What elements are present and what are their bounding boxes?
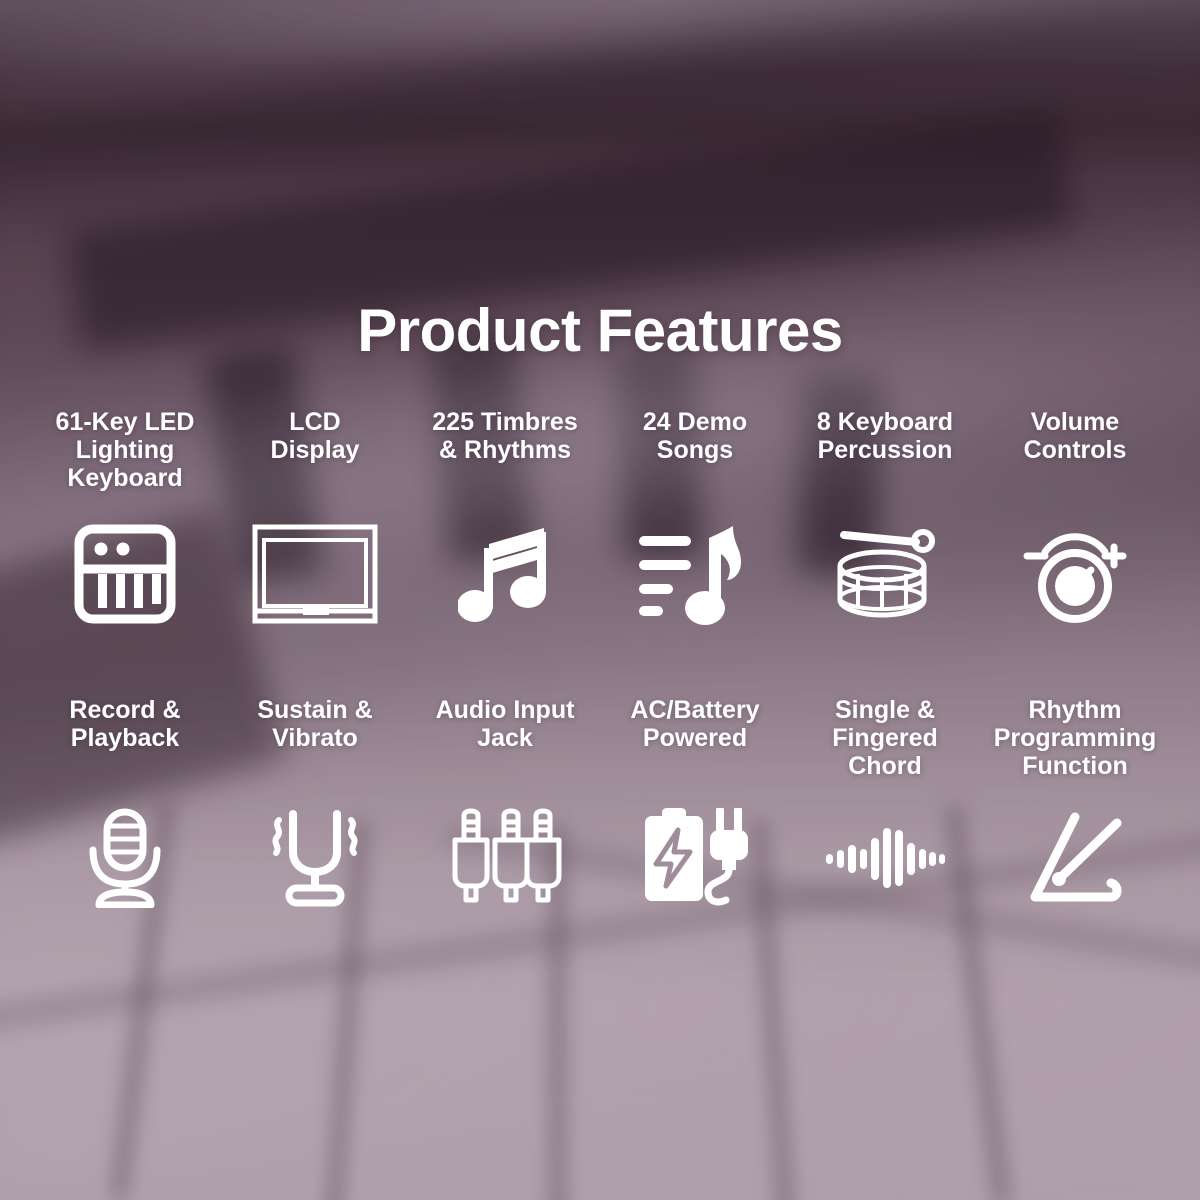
feature-grid-row-1: 61-Key LED Lighting Keyboard: [30, 408, 1170, 632]
feature-item-led-keyboard: 61-Key LED Lighting Keyboard: [30, 408, 220, 632]
feature-label: 8 Keyboard Percussion: [817, 408, 953, 502]
waveform-icon: [824, 804, 946, 912]
feature-item-audio-input-jack: Audio Input Jack: [410, 696, 600, 912]
feature-label: AC/Battery Powered: [630, 696, 759, 792]
feature-item-lcd-display: LCD Display: [220, 408, 410, 632]
tuning-fork-icon: [263, 804, 367, 912]
feature-label: Record & Playback: [69, 696, 180, 792]
feature-label: Single & Fingered Chord: [832, 696, 938, 792]
feature-item-ac-battery: AC/Battery Powered: [600, 696, 790, 912]
product-features-infographic: Product Features 61-Key LED Lighting Key…: [0, 0, 1200, 1200]
feature-label: Volume Controls: [1024, 408, 1127, 502]
keyboard-icon: [73, 516, 177, 632]
feature-label: Sustain & Vibrato: [257, 696, 372, 792]
lcd-display-icon: [251, 516, 379, 632]
page-title: Product Features: [0, 296, 1200, 365]
feature-label: Rhythm Programming Function: [994, 696, 1157, 792]
feature-label: 61-Key LED Lighting Keyboard: [56, 408, 195, 502]
feature-item-fingered-chord: Single & Fingered Chord: [790, 696, 980, 912]
battery-plug-icon: [640, 804, 750, 912]
feature-label: 225 Timbres & Rhythms: [432, 408, 577, 502]
feature-grid-row-2: Record & Playback Sustain & Vibrato: [30, 696, 1170, 912]
feature-label: Audio Input Jack: [436, 696, 575, 792]
playlist-note-icon: [637, 516, 753, 632]
metronome-icon: [1023, 804, 1127, 912]
feature-item-demo-songs: 24 Demo Songs: [600, 408, 790, 632]
feature-label: LCD Display: [271, 408, 360, 502]
feature-item-keyboard-percussion: 8 Keyboard Percussion: [790, 408, 980, 632]
audio-plugs-icon: [447, 804, 563, 912]
feature-item-rhythm-programming: Rhythm Programming Function: [980, 696, 1170, 912]
feature-item-record-playback: Record & Playback: [30, 696, 220, 912]
music-note-icon: [458, 516, 552, 632]
volume-knob-icon: [1023, 516, 1127, 632]
feature-item-volume-controls: Volume Controls: [980, 408, 1170, 632]
feature-label: 24 Demo Songs: [643, 408, 747, 502]
feature-item-timbres-rhythms: 225 Timbres & Rhythms: [410, 408, 600, 632]
snare-drum-icon: [830, 516, 940, 632]
feature-item-sustain-vibrato: Sustain & Vibrato: [220, 696, 410, 912]
microphone-icon: [83, 804, 167, 912]
